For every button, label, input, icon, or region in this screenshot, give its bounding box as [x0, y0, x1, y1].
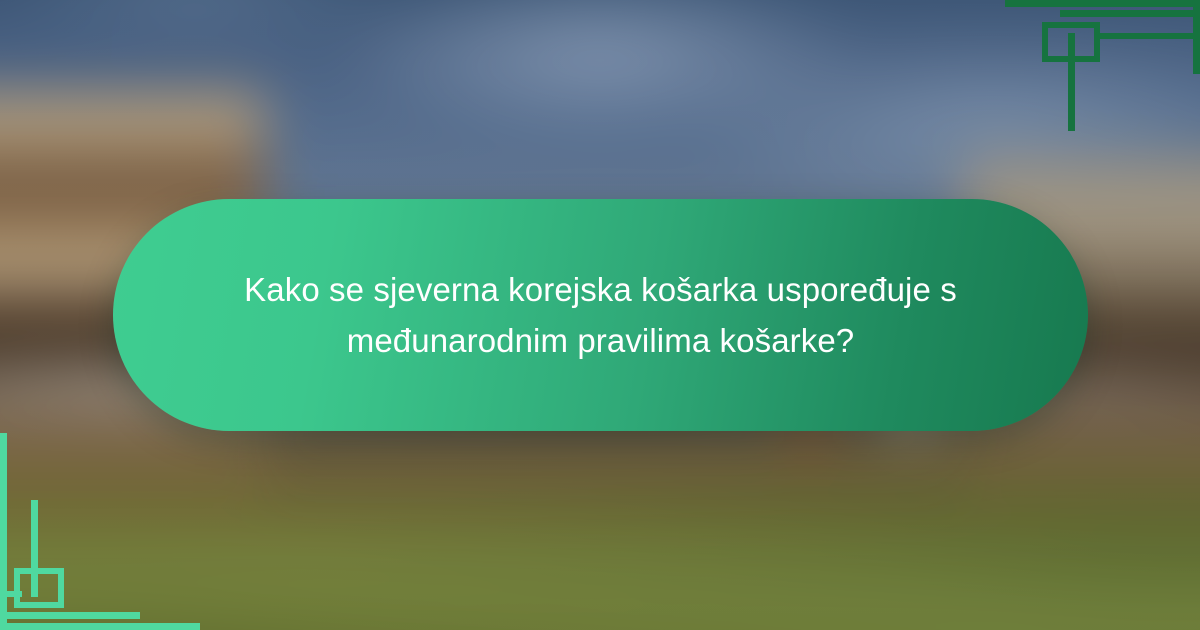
ornament-bar-vertical-stem	[31, 500, 38, 597]
ornament-bar-connector	[1094, 33, 1200, 39]
question-text: Kako se sjeverna korejska košarka uspore…	[211, 264, 991, 367]
ornament-bar-horizontal-short	[0, 612, 140, 619]
corner-ornament-bottom-left	[0, 430, 210, 630]
ornament-square-bottom	[14, 602, 64, 608]
corner-ornament-top-right	[1000, 0, 1200, 140]
ornament-bar-horizontal-long	[0, 623, 200, 630]
ornament-square-top	[1042, 22, 1100, 28]
ornament-bar-vertical-edge	[0, 433, 7, 630]
ornament-bar-horizontal-long	[1005, 0, 1200, 7]
ornament-square-right	[58, 568, 64, 608]
ornament-bar-horizontal-short	[1060, 10, 1200, 17]
ornament-square-right	[1094, 22, 1100, 62]
ornament-square-top	[14, 568, 64, 574]
ornament-bar-connector	[0, 591, 22, 597]
ornament-square-left	[14, 568, 20, 608]
poster-canvas: Kako se sjeverna korejska košarka uspore…	[0, 0, 1200, 630]
ornament-bar-vertical-stem	[1068, 33, 1075, 131]
question-card: Kako se sjeverna korejska košarka uspore…	[113, 199, 1088, 431]
